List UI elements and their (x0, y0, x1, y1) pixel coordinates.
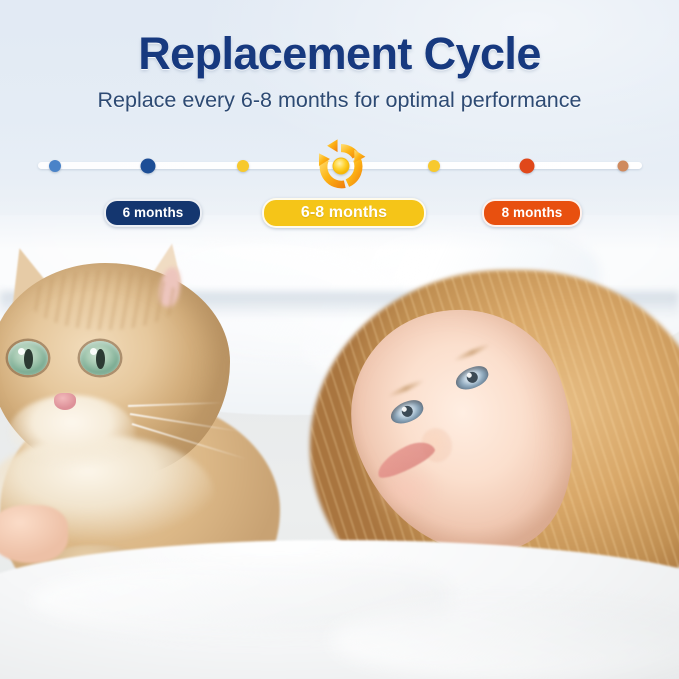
timeline-dot-7 (618, 161, 629, 172)
cat-forehead-stripes (30, 270, 180, 330)
cat-pupil (24, 349, 33, 369)
cat-eye-left (8, 341, 48, 375)
badge-6-months[interactable]: 6 months (104, 199, 202, 227)
badge-8-months[interactable]: 8 months (482, 199, 582, 227)
recycle-cycle-icon (312, 137, 370, 195)
badge-6-8-months[interactable]: 6-8 months (262, 198, 426, 228)
timeline-dot-3 (237, 160, 249, 172)
timeline-dot-6 (520, 159, 535, 174)
timeline-dot-5 (428, 160, 440, 172)
cycle-arrow-right (346, 150, 366, 187)
cat-nose (54, 393, 76, 410)
product-infographic: Replacement Cycle Replace every 6-8 mont… (0, 0, 679, 679)
timeline-dot-2 (140, 159, 155, 174)
girl-hand-left (0, 505, 68, 563)
cycle-center-dot (333, 158, 348, 173)
cat-eye-glint (18, 348, 25, 355)
cat-eye-right (80, 341, 120, 375)
page-title: Replacement Cycle (0, 28, 679, 80)
cat-eye-glint (90, 348, 97, 355)
sheet-crease (330, 600, 679, 679)
timeline-dot-1 (49, 160, 61, 172)
cat-pupil (96, 349, 105, 369)
page-subtitle: Replace every 6-8 months for optimal per… (0, 88, 679, 113)
